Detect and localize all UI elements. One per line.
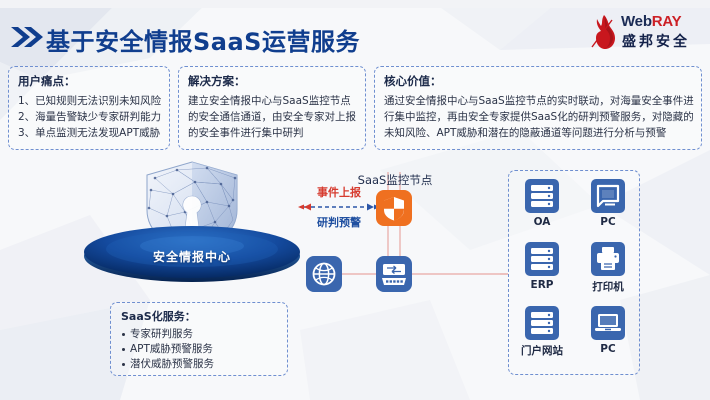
- server-rack-icon: [525, 306, 559, 340]
- pain-points-line: 3、单点监测无法发现APT威胁: [18, 125, 160, 141]
- info-box-pain-points: 用户痛点： 1、已知规则无法识别未知风险 2、海量告警缺少专家研判能力 3、单点…: [8, 66, 170, 150]
- slide-canvas: 基于安全情报SaaS运营服务 WebRAY 盛邦安全 用户痛点： 1、已知规则无…: [0, 0, 710, 400]
- desktop-monitor-icon: [591, 179, 625, 213]
- info-box-solution: 解决方案： 建立安全情报中心与SaaS监控节点 的安全通信通道，由安全专家对上报…: [178, 66, 366, 150]
- core-value-title: 核心价值：: [384, 73, 692, 89]
- device-label: OA: [534, 216, 551, 228]
- pain-points-title: 用户痛点：: [18, 73, 160, 89]
- network-switch-node[interactable]: [376, 256, 412, 292]
- saas-monitor-node[interactable]: [376, 190, 412, 226]
- flow-label-analysis-alert: 研判预警: [300, 214, 378, 230]
- pain-points-line: 2、海量告警缺少专家研判能力: [18, 109, 160, 125]
- solution-line: 的安全通信通道，由安全专家对上报: [188, 109, 356, 125]
- center-label: 安全情报中心: [82, 248, 302, 265]
- server-rack-icon: [525, 242, 559, 276]
- logo-web: Web: [621, 13, 652, 30]
- saas-service-item: 专家研判服务: [121, 327, 277, 342]
- core-value-line: 未知风险、APT威胁和潜在的隐蔽通道等问题进行分析与预警: [384, 125, 692, 141]
- device-item-portal-site[interactable]: 门户网站: [509, 306, 575, 369]
- device-item-pc-laptop[interactable]: PC: [575, 306, 641, 369]
- server-rack-icon: [525, 179, 559, 213]
- info-box-core-value: 核心价值： 通过安全情报中心与SaaS监控节点的实时联动，对海量安全事件进 行集…: [374, 66, 702, 150]
- pain-points-line: 1、已知规则无法识别未知风险: [18, 93, 160, 109]
- webray-flame-mark-icon: [590, 14, 620, 50]
- solution-line: 建立安全情报中心与SaaS监控节点: [188, 93, 356, 109]
- security-intelligence-center: 安全情报中心: [82, 160, 302, 285]
- device-item-pc-desktop[interactable]: PC: [575, 179, 641, 242]
- globe-icon: [306, 256, 342, 292]
- webray-logo: WebRAY 盛邦安全: [590, 12, 702, 52]
- double-chevron-right-icon: [10, 26, 44, 48]
- bidirectional-dashed-arrow-icon: [296, 201, 382, 213]
- saas-services-box: SaaS化服务： 专家研判服务 APT威胁预警服务 潜伏威胁预警服务: [110, 302, 288, 376]
- device-label: PC: [600, 216, 615, 228]
- internet-globe-node[interactable]: [306, 256, 342, 292]
- device-label: 打印机: [592, 279, 624, 294]
- solution-line: 的安全事件进行集中研判: [188, 125, 356, 141]
- device-panel: OA PC ERP: [508, 170, 640, 375]
- device-label: PC: [600, 343, 615, 355]
- orange-shield-icon: [376, 190, 412, 226]
- logo-chinese-name: 盛邦安全: [622, 31, 690, 51]
- core-value-line: 通过安全情报中心与SaaS监控节点的实时联动，对海量安全事件进: [384, 93, 692, 109]
- core-value-line: 行集中监控，再由安全专家提供SaaS化的研判预警服务，对隐藏的: [384, 109, 692, 125]
- network-switch-icon: [376, 256, 412, 292]
- saas-services-title: SaaS化服务：: [121, 308, 277, 324]
- logo-wordmark: WebRAY: [621, 14, 682, 30]
- device-item-printer[interactable]: 打印机: [575, 242, 641, 305]
- logo-ray: RAY: [652, 13, 682, 30]
- saas-service-item: 潜伏威胁预警服务: [121, 357, 277, 372]
- device-label: 门户网站: [521, 343, 563, 358]
- device-label: ERP: [531, 279, 554, 291]
- device-item-oa[interactable]: OA: [509, 179, 575, 242]
- solution-title: 解决方案：: [188, 73, 356, 89]
- page-title: 基于安全情报SaaS运营服务: [46, 22, 360, 57]
- printer-icon: [591, 242, 625, 276]
- device-grid: OA PC ERP: [509, 179, 641, 369]
- saas-service-item: APT威胁预警服务: [121, 342, 277, 357]
- flow-labels-group: 事件上报 研判预警: [300, 184, 378, 230]
- laptop-icon: [591, 306, 625, 340]
- device-item-erp[interactable]: ERP: [509, 242, 575, 305]
- slide-header: 基于安全情报SaaS运营服务 WebRAY 盛邦安全: [0, 0, 710, 62]
- saas-node-label: SaaS监控节点: [330, 172, 460, 188]
